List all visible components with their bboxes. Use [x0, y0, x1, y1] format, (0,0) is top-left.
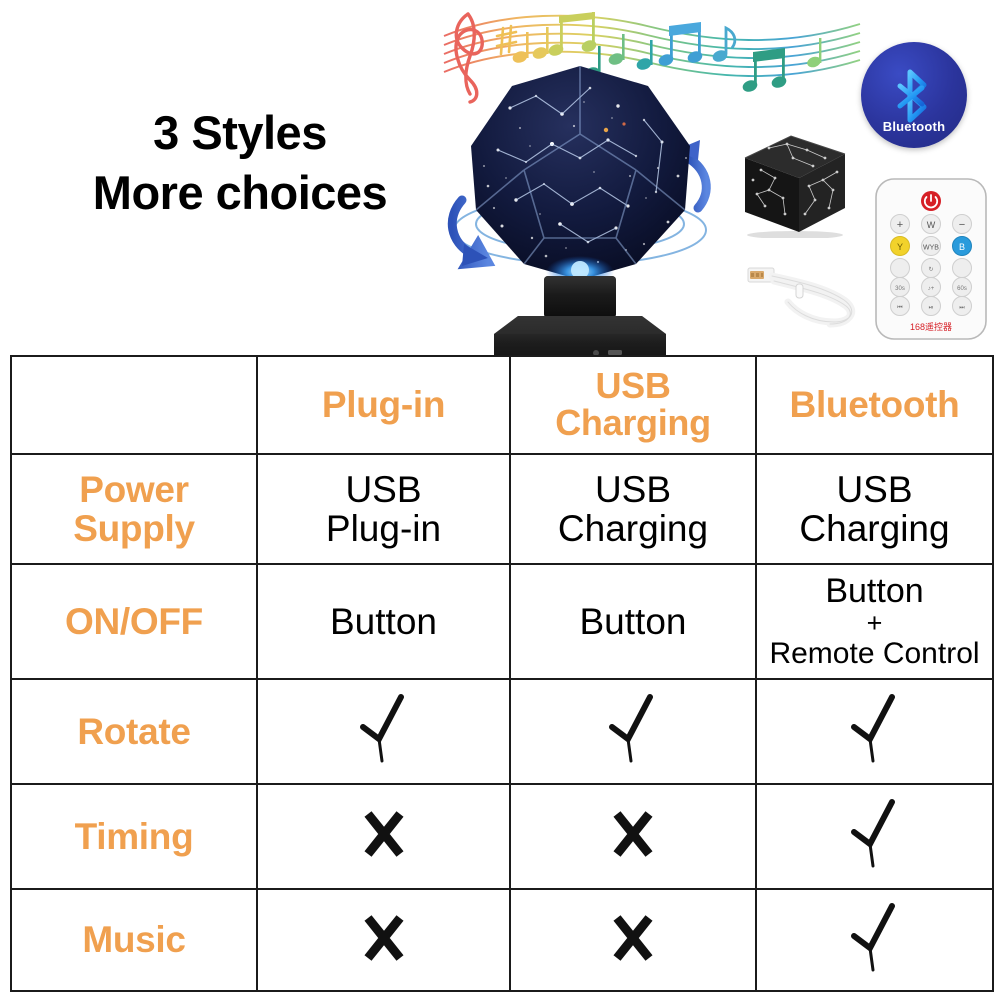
remote-model-label: 168遥控器 [910, 321, 952, 332]
cell-onoff-bluetooth: Button + Remote Control [756, 564, 993, 679]
row-label-text: ON/OFF [65, 601, 203, 642]
cell-text-line2: Remote Control [761, 637, 988, 671]
table-header-row: Plug-in USB Charging Bluetooth [11, 356, 993, 454]
cell-power-bluetooth: USB Charging [756, 454, 993, 564]
header-cell-usb-charging: USB Charging [510, 356, 756, 454]
svg-text:−: − [959, 219, 965, 231]
cell-text-line2: Charging [515, 509, 751, 548]
cell-timing-usb-charging [510, 784, 756, 889]
row-label-text: Rotate [77, 711, 190, 752]
svg-text:W: W [927, 220, 936, 230]
cell-text-plus: + [761, 610, 988, 637]
cell-text: Button [580, 601, 687, 642]
svg-text:Y: Y [897, 242, 903, 252]
row-label-text: Music [82, 919, 185, 960]
cell-text-line1: USB [761, 470, 988, 509]
row-label-onoff: ON/OFF [11, 564, 257, 679]
hero-section: 3 Styles More choices [0, 0, 1000, 355]
cell-onoff-usb-charging: Button [510, 564, 756, 679]
row-label-music: Music [11, 889, 257, 991]
cell-power-usb-charging: USB Charging [510, 454, 756, 564]
row-label-power-supply: Power Supply [11, 454, 257, 564]
cell-text-line1: USB [262, 470, 505, 509]
cell-timing-bluetooth [756, 784, 993, 889]
page-title: 3 Styles More choices [40, 103, 440, 223]
header-usb-line1: USB [515, 368, 751, 405]
header-cell-plugin: Plug-in [257, 356, 510, 454]
usb-cable-icon [740, 248, 870, 330]
star-projector-lamp [440, 58, 722, 358]
gift-box-icon [735, 128, 853, 238]
headline-line-1: 3 Styles [40, 103, 440, 163]
cell-text-line1: USB [515, 470, 751, 509]
cell-rotate-usb-charging [510, 679, 756, 784]
table-row-onoff: ON/OFF Button Button Button + Remote Con… [11, 564, 993, 679]
table-row-power-supply: Power Supply USB Plug-in USB Charging [11, 454, 993, 564]
product-comparison-image: 3 Styles More choices [0, 0, 1000, 1000]
bluetooth-badge-label: Bluetooth [861, 119, 967, 134]
cell-rotate-bluetooth [756, 679, 993, 784]
svg-text:60s: 60s [957, 286, 967, 292]
header-plugin-label: Plug-in [322, 384, 445, 425]
svg-text:30s: 30s [895, 286, 905, 292]
svg-text:B: B [959, 242, 965, 252]
row-label-rotate: Rotate [11, 679, 257, 784]
svg-text:↻: ↻ [928, 266, 933, 273]
table-row-timing: Timing [11, 784, 993, 889]
svg-text:WYB: WYB [923, 245, 939, 252]
cell-text-line2: Plug-in [262, 509, 505, 548]
row-label-line2: Supply [16, 509, 252, 548]
cell-music-usb-charging [510, 889, 756, 991]
cell-music-plugin [257, 889, 510, 991]
svg-text:⏮: ⏮ [897, 305, 903, 311]
cell-music-bluetooth [756, 889, 993, 991]
table-row-rotate: Rotate [11, 679, 993, 784]
row-label-text: Timing [75, 816, 194, 857]
cell-timing-plugin [257, 784, 510, 889]
svg-text:+: + [897, 219, 903, 231]
cell-text-line2: Charging [761, 509, 988, 548]
row-label-timing: Timing [11, 784, 257, 889]
cell-text-line1: Button [761, 572, 988, 610]
cell-rotate-plugin [257, 679, 510, 784]
comparison-table: Plug-in USB Charging Bluetooth Power [10, 355, 994, 992]
header-usb-line2: Charging [515, 405, 751, 442]
cell-text: Button [330, 601, 437, 642]
bluetooth-badge-icon: Bluetooth [861, 42, 967, 148]
svg-text:⏭: ⏭ [959, 305, 965, 311]
table-row-music: Music [11, 889, 993, 991]
row-label-line1: Power [16, 470, 252, 509]
cell-onoff-plugin: Button [257, 564, 510, 679]
header-cell-blank [11, 356, 257, 454]
header-bluetooth-label: Bluetooth [790, 384, 960, 425]
svg-text:♪+: ♪+ [928, 286, 935, 292]
headline-line-2: More choices [40, 163, 440, 223]
svg-text:⏯: ⏯ [929, 305, 934, 311]
header-cell-bluetooth: Bluetooth [756, 356, 993, 454]
remote-control-icon: + W − Y WYB B [872, 175, 990, 343]
cell-power-plugin: USB Plug-in [257, 454, 510, 564]
